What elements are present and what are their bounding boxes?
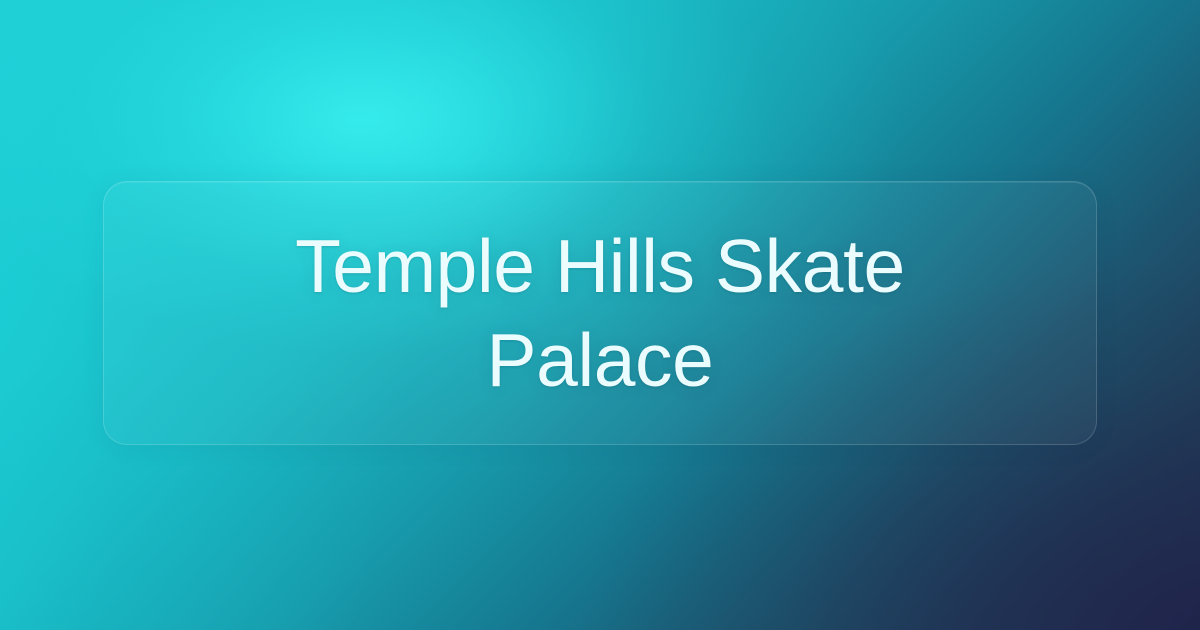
page-title: Temple Hills Skate Palace (148, 219, 1052, 407)
share-card-canvas: Temple Hills Skate Palace (0, 0, 1200, 630)
title-card: Temple Hills Skate Palace (103, 181, 1097, 445)
